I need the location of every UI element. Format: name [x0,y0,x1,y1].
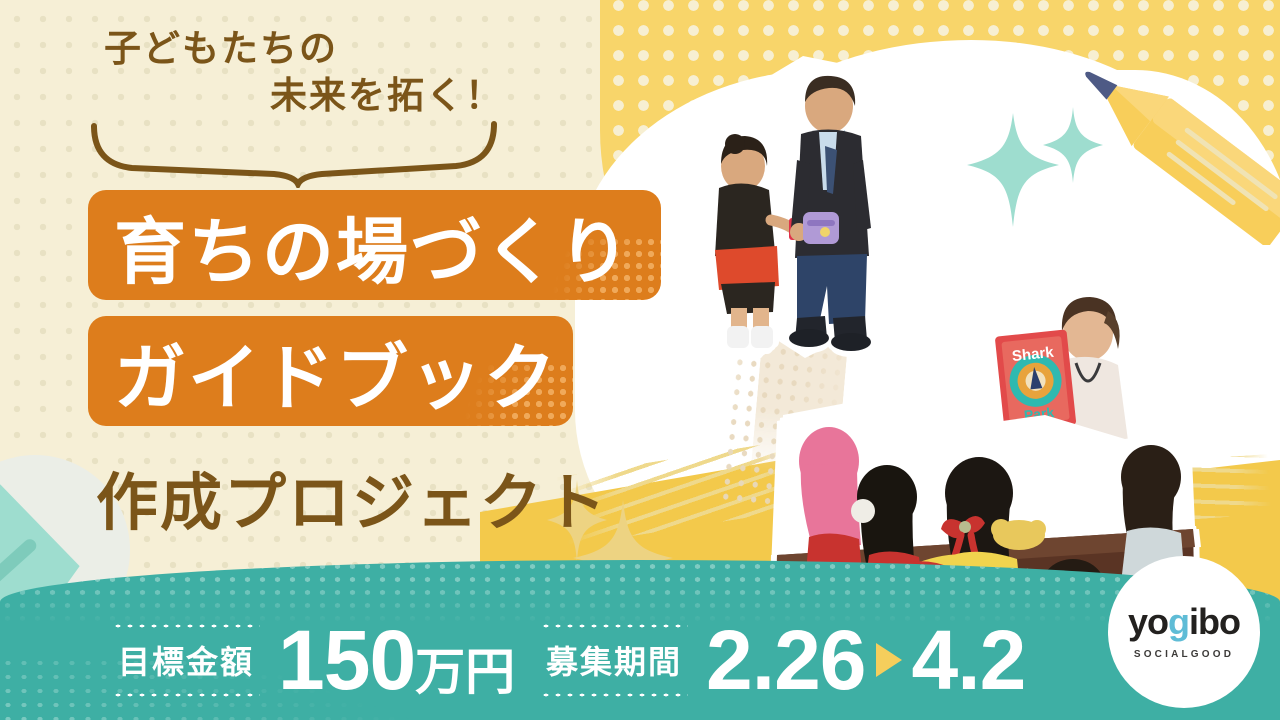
logo-tagline: SOCIALGOOD [1134,649,1234,660]
goal-amount-number: 150 [278,613,415,707]
goal-amount-block: 目標金額 150万円 [112,618,515,702]
goal-amount-label: 目標金額 [112,623,260,697]
title-band-primary: 育ちの場づくり [88,190,661,300]
logo-word-g: g [1168,601,1189,642]
title-line-three: 作成プロジェクト [96,452,608,542]
curly-brace-icon [88,118,508,188]
logo-wordmark: yogibo [1128,604,1240,640]
page-kicker: 子どもたちの 未来を拓く！ [104,26,524,119]
period-block: 募集期間 2.264.2 [540,618,1025,702]
man-and-girl-photo [685,60,900,360]
title-band-secondary: ガイドブック [88,316,573,426]
period-end-date: 4.2 [912,613,1026,707]
title-band-secondary-label: ガイドブック [114,319,558,424]
period-start-date: 2.26 [706,613,866,707]
arrow-right-icon [876,643,902,677]
logo-word-end: ibo [1189,601,1240,642]
kicker-line-1: 子どもたちの [104,28,338,69]
logo-word-start: yo [1128,601,1168,642]
period-label: 募集期間 [540,623,688,697]
period-value: 2.264.2 [706,618,1025,702]
goal-amount-value: 150万円 [278,618,515,702]
goal-amount-unit: 万円 [415,644,515,700]
title-band-primary-label: 育ちの場づくり [114,193,632,298]
campaign-banner: Shark Park [0,0,1280,720]
yogibo-social-good-logo: yogibo SOCIALGOOD [1108,556,1260,708]
sparkle-icon [955,105,1105,245]
kicker-line-2: 未来を拓く！ [104,73,524,120]
pencil-icon [1080,55,1280,245]
